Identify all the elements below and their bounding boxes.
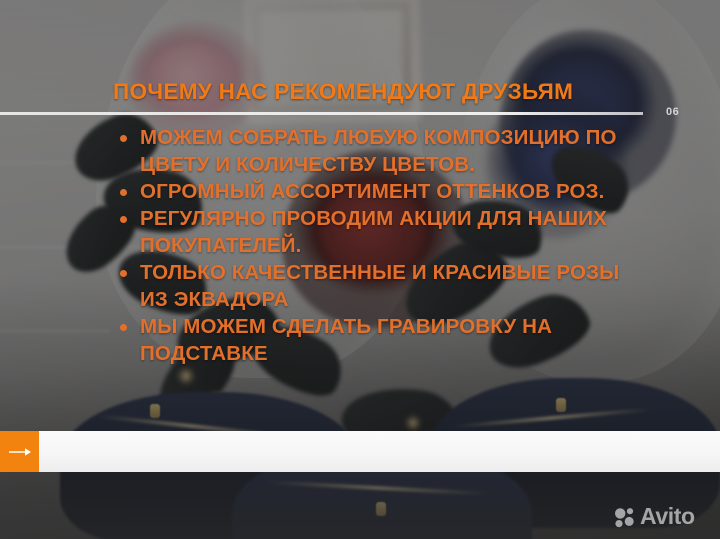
list-item: ОГРОМНЫЙ АССОРТИМЕНТ ОТТЕНКОВ РОЗ.	[113, 178, 643, 205]
list-item: РЕГУЛЯРНО ПРОВОДИМ АКЦИИ ДЛЯ НАШИХ ПОКУП…	[113, 205, 643, 259]
title-divider-rule	[0, 112, 643, 115]
bottom-bar	[0, 431, 720, 472]
arrow-right-icon	[8, 446, 32, 458]
avito-dots-logo-icon	[614, 506, 636, 528]
avito-watermark-text: Avito	[640, 505, 695, 528]
bullet-list: МОЖЕМ СОБРАТЬ ЛЮБУЮ КОМПОЗИЦИЮ ПО ЦВЕТУ …	[113, 124, 643, 367]
slide-content: ПОЧЕМУ НАС РЕКОМЕНДУЮТ ДРУЗЬЯМ 06 МОЖЕМ …	[0, 0, 720, 539]
slide-title: ПОЧЕМУ НАС РЕКОМЕНДУЮТ ДРУЗЬЯМ	[113, 79, 573, 105]
next-slide-button[interactable]	[0, 431, 39, 472]
presentation-slide: ПОЧЕМУ НАС РЕКОМЕНДУЮТ ДРУЗЬЯМ 06 МОЖЕМ …	[0, 0, 720, 539]
list-item: МОЖЕМ СОБРАТЬ ЛЮБУЮ КОМПОЗИЦИЮ ПО ЦВЕТУ …	[113, 124, 643, 178]
avito-watermark: Avito	[614, 505, 695, 528]
list-item: МЫ МОЖЕМ СДЕЛАТЬ ГРАВИРОВКУ НА ПОДСТАВКЕ	[113, 313, 643, 367]
page-number: 06	[666, 106, 679, 118]
list-item: ТОЛЬКО КАЧЕСТВЕННЫЕ И КРАСИВЫЕ РОЗЫ ИЗ Э…	[113, 259, 643, 313]
